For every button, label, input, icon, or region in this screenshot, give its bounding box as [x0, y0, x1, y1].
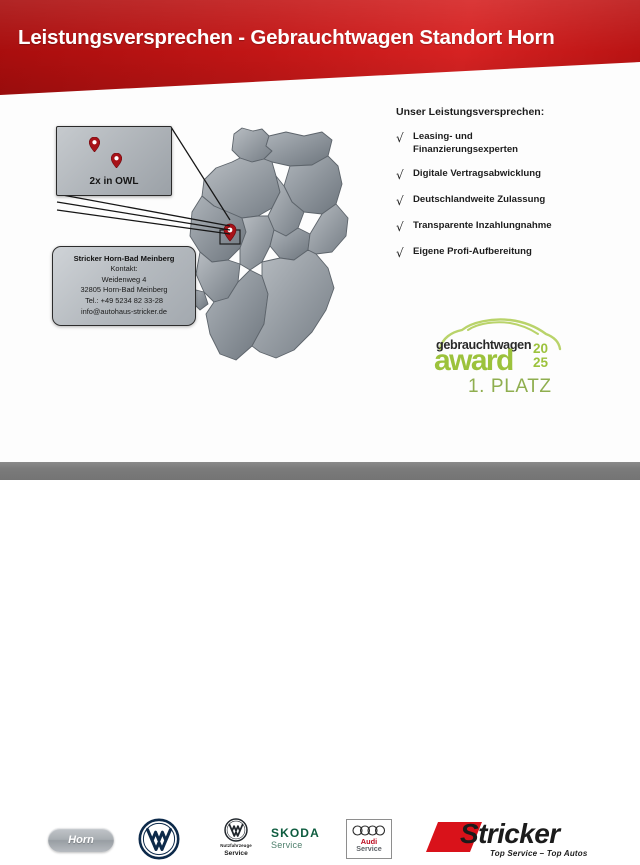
address-dealer-name: Stricker Horn-Bad Meinberg — [58, 253, 190, 264]
stricker-logo: Stricker Top Service – Top Autos — [424, 816, 600, 862]
owl-pin-1 — [89, 137, 100, 152]
promise-item-label: Eigene Profi-Aufbereitung — [413, 246, 532, 259]
vw-nutzfahrzeuge-logo: Nutzfahrzeuge Service — [205, 818, 267, 857]
audi-service-label: Service — [356, 845, 382, 853]
skoda-service-logo: SKODA Service — [271, 827, 320, 850]
vw-logo — [138, 818, 180, 865]
skoda-service-label: Service — [271, 840, 320, 850]
skoda-label: SKODA — [271, 827, 320, 839]
promise-item-label: Transparente Inzahlungnahme — [413, 220, 552, 233]
promise-item: √ Digitale Vertragsabwicklung — [396, 168, 632, 183]
slide-root: Leistungsversprechen - Gebrauchtwagen St… — [0, 0, 640, 480]
page-title: Leistungsversprechen - Gebrauchtwagen St… — [18, 26, 628, 50]
promise-item-line: Leasing- und — [413, 131, 518, 144]
stricker-tagline: Top Service – Top Autos — [490, 849, 588, 858]
award-year: 20 25 — [533, 342, 548, 370]
address-email: info@autohaus-stricker.de — [58, 307, 190, 318]
promise-item-line: Finanzierungsexperten — [413, 144, 518, 157]
address-box: Stricker Horn-Bad Meinberg Kontakt: Weid… — [52, 246, 196, 326]
horn-logo-label: Horn — [68, 834, 94, 846]
footer-logo-bar: Horn Nutzfahrzeuge Service SKODA Service — [0, 404, 640, 462]
address-phone: Tel.: +49 5234 82 33-28 — [58, 296, 190, 307]
owl-callout-label: 2x in OWL — [57, 176, 171, 187]
award-year-bottom: 25 — [533, 356, 548, 370]
stricker-wordmark: Stricker — [460, 820, 560, 848]
audi-label: Audi — [361, 838, 377, 845]
promise-list: Unser Leistungsversprechen: √ Leasing- u… — [396, 106, 632, 272]
promise-item-label: Leasing- und Finanzierungsexperten — [413, 131, 518, 157]
check-icon: √ — [396, 168, 413, 183]
owl-pin-2 — [111, 153, 122, 168]
promise-item: √ Leasing- und Finanzierungsexperten — [396, 131, 632, 157]
check-icon: √ — [396, 131, 413, 146]
address-line: 32805 Horn-Bad Meinberg — [58, 285, 190, 296]
promise-item-label: Digitale Vertragsabwicklung — [413, 168, 541, 181]
owl-callout-box: 2x in OWL — [56, 126, 172, 196]
promise-item-label: Deutschlandweite Zulassung — [413, 194, 545, 207]
promise-item: √ Deutschlandweite Zulassung — [396, 194, 632, 209]
audi-service-logo: Audi Service — [346, 819, 392, 859]
vw-nutzfahrzeuge-label: Nutzfahrzeuge — [205, 843, 267, 848]
check-icon: √ — [396, 194, 413, 209]
bottom-bar — [0, 462, 640, 480]
check-icon: √ — [396, 246, 413, 261]
promise-item: √ Transparente Inzahlungnahme — [396, 220, 632, 235]
audi-rings-icon — [352, 825, 386, 836]
horn-logo: Horn — [48, 828, 114, 852]
award-word-label: award — [434, 346, 513, 376]
award-badge: gebrauchtwagen award 20 25 1. PLATZ — [424, 316, 574, 400]
award-rank-label: 1. PLATZ — [468, 376, 552, 398]
check-icon: √ — [396, 220, 413, 235]
award-year-top: 20 — [533, 342, 548, 356]
address-line: Kontakt: — [58, 264, 190, 275]
vw-nutzfahrzeuge-service-label: Service — [205, 850, 267, 857]
promise-item: √ Eigene Profi-Aufbereitung — [396, 246, 632, 261]
promise-list-title: Unser Leistungsversprechen: — [396, 106, 632, 118]
address-line: Weidenweg 4 — [58, 275, 190, 286]
